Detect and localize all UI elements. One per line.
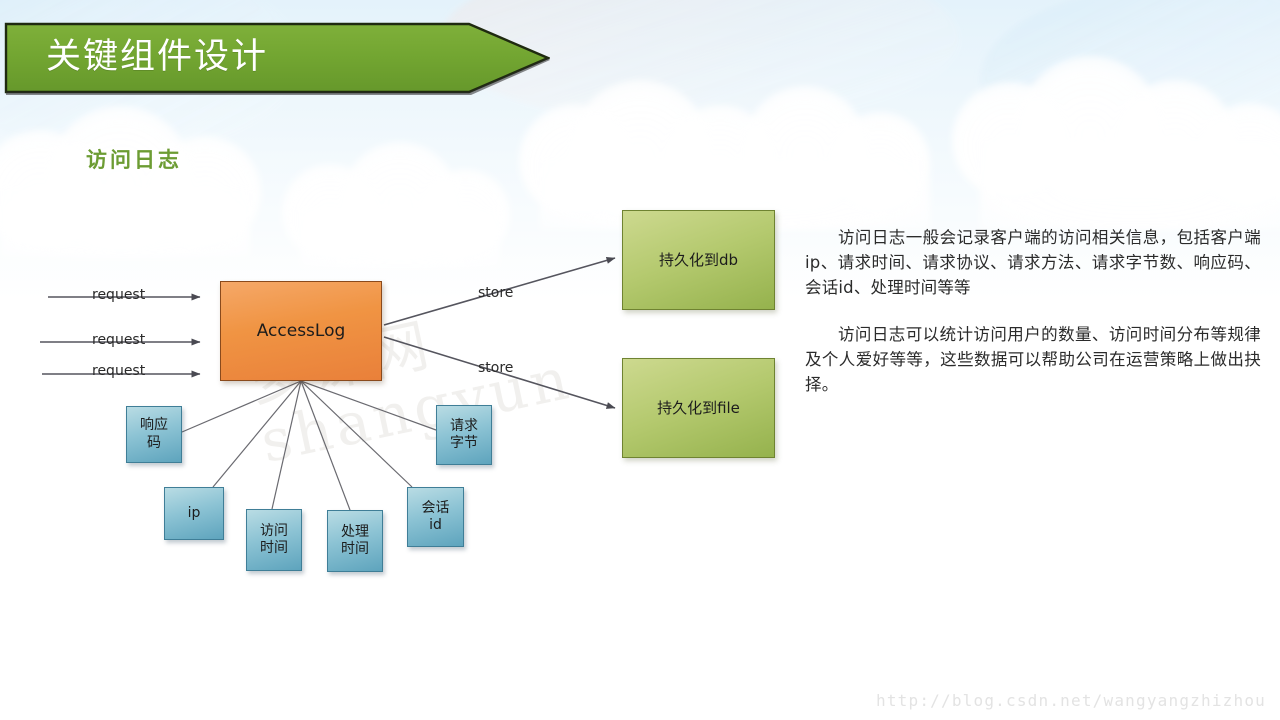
node-attribute-request-bytes[interactable]: 请求 字节 <box>436 405 492 465</box>
spoke-reqbytes <box>301 381 436 430</box>
node-attribute-process-time[interactable]: 处理 时间 <box>327 510 383 572</box>
node-attribute-session-id[interactable]: 会话 id <box>407 487 464 547</box>
attr-proctime-label: 处理 时间 <box>341 524 369 558</box>
edge-label-request-3: request <box>92 363 145 379</box>
edge-label-request-1: request <box>92 287 145 303</box>
spoke-proctime <box>301 381 350 510</box>
node-attribute-ip[interactable]: ip <box>164 487 224 540</box>
spoke-visittime <box>272 381 301 509</box>
description-panel: 访问日志一般会记录客户端的访问相关信息，包括客户端ip、请求时间、请求协议、请求… <box>805 225 1261 419</box>
node-attribute-response-code[interactable]: 响应 码 <box>126 406 182 463</box>
attr-respcode-label: 响应 码 <box>140 417 168 451</box>
edge-label-store-db: store <box>478 285 513 301</box>
description-paragraph-1: 访问日志一般会记录客户端的访问相关信息，包括客户端ip、请求时间、请求协议、请求… <box>805 225 1261 300</box>
banner-title-text: 关键组件设计 <box>46 36 268 78</box>
slide-canvas: 关键组件设计 访问日志 多课网 shangyun <box>0 0 1280 720</box>
attr-visittime-label: 访问 时间 <box>260 523 288 557</box>
node-persist-db[interactable]: 持久化到db <box>622 210 775 310</box>
node-attribute-visit-time[interactable]: 访问 时间 <box>246 509 302 571</box>
edge-label-store-file: store <box>478 360 513 376</box>
attr-reqbytes-label: 请求 字节 <box>450 418 478 452</box>
spoke-respcode <box>182 381 301 432</box>
edge-label-request-2: request <box>92 332 145 348</box>
spoke-ip <box>213 381 301 487</box>
node-persist-file[interactable]: 持久化到file <box>622 358 775 458</box>
description-paragraph-2: 访问日志可以统计访问用户的数量、访问时间分布等规律及个人爱好等等，这些数据可以帮… <box>805 322 1261 397</box>
node-accesslog[interactable]: AccessLog <box>220 281 382 381</box>
attr-sessionid-label: 会话 id <box>422 500 450 534</box>
footer-watermark-url: http://blog.csdn.net/wangyangzhizhou <box>876 691 1266 710</box>
node-persist-db-label: 持久化到db <box>659 251 738 269</box>
node-persist-file-label: 持久化到file <box>657 399 740 417</box>
section-subtitle: 访问日志 <box>86 144 182 174</box>
spoke-sessionid <box>301 381 412 487</box>
node-accesslog-label: AccessLog <box>257 321 346 342</box>
attr-ip-label: ip <box>188 505 201 522</box>
title-banner: 关键组件设计 <box>4 18 550 96</box>
